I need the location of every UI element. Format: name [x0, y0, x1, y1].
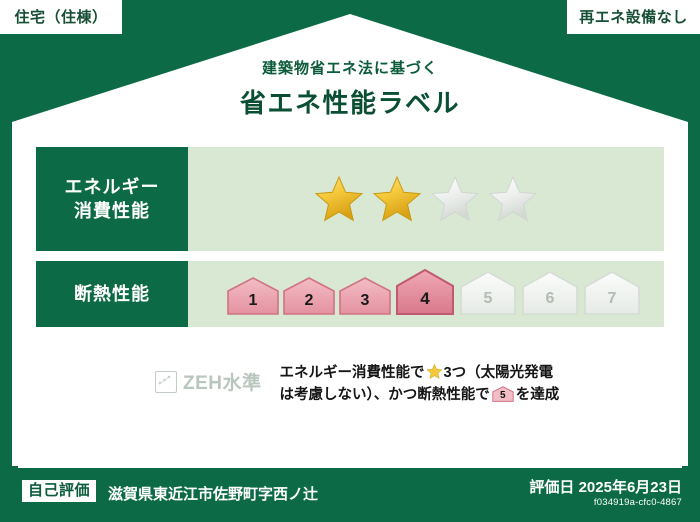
house-badge-4-current: 4: [394, 267, 456, 322]
energy-performance-label: エネルギー 消費性能: [36, 147, 188, 251]
property-address: 滋賀県東近江市佐野町字西ノ辻: [108, 483, 318, 504]
house-icon: [458, 269, 518, 317]
star-rating: [313, 173, 539, 225]
zeh-dots-icon: [156, 372, 173, 389]
zeh-checkbox-icon: [155, 371, 177, 393]
house-badge-5: 5: [458, 269, 518, 322]
insulation-performance-label: 断熱性能: [36, 261, 188, 327]
house-icon: [338, 275, 392, 317]
house-icon: [282, 275, 336, 317]
house-icon: [520, 269, 580, 317]
zeh-description-line2: は考慮しない）、かつ断熱性能で5を達成: [280, 384, 560, 410]
renewable-equipment-badge: 再エネ設備なし: [567, 0, 700, 34]
star-gold-icon: [313, 173, 365, 225]
zeh-desc-l2-part1: は考慮しない）、かつ断熱性能で: [280, 387, 490, 403]
house-icon: [582, 269, 642, 317]
house-badge-1: 1: [226, 275, 280, 322]
house-badge-2: 2: [282, 275, 336, 322]
house-badge-inline-5: 5: [492, 385, 514, 410]
house-icon: [394, 267, 456, 317]
page-title: 省エネ性能ラベル: [0, 83, 700, 120]
evaluation-date: 評価日 2025年6月23日: [529, 476, 682, 497]
label-id-code: f034919a-cfc0-4867: [594, 497, 682, 508]
energy-label-line1: エネルギー: [65, 177, 160, 197]
title-subtitle: 建築物省エネ法に基づく: [0, 57, 700, 78]
star-gray-icon: [487, 173, 539, 225]
energy-performance-row: エネルギー 消費性能: [36, 147, 664, 251]
energy-rating-area: [188, 147, 664, 251]
house-badge-3: 3: [338, 275, 392, 322]
house-number: 5: [492, 388, 514, 404]
zeh-desc-l1-part2: 3つ（太陽光発電: [444, 365, 554, 381]
title-block: 建築物省エネ法に基づく 省エネ性能ラベル: [0, 57, 700, 120]
footer: 自己評価 滋賀県東近江市佐野町字西ノ辻 評価日 2025年6月23日 f0349…: [0, 466, 700, 522]
zeh-standard-row: ZEH水準 エネルギー消費性能で3つ（太陽光発電 は考慮しない）、かつ断熱性能で…: [155, 362, 575, 418]
insulation-rating-area: 1 2 3: [188, 261, 664, 327]
star-gold-icon: [371, 173, 423, 225]
energy-performance-label: 住宅（住棟） 再エネ設備なし 建築物省エネ法に基づく 省エネ性能ラベル エネルギ…: [0, 0, 700, 522]
house-badge-6: 6: [520, 269, 580, 322]
zeh-description-line1: エネルギー消費性能で3つ（太陽光発電: [280, 362, 560, 384]
energy-label-line2: 消費性能: [74, 201, 150, 221]
house-icon: [226, 275, 280, 317]
footer-divider: [18, 466, 682, 468]
star-gray-icon: [429, 173, 481, 225]
zeh-label: ZEH水準: [183, 368, 262, 395]
zeh-desc-l2-part2: を達成: [516, 387, 560, 403]
star-gold-icon: [426, 363, 443, 380]
insulation-performance-row: 断熱性能 1: [36, 261, 664, 327]
zeh-desc-l1-part1: エネルギー消費性能で: [280, 365, 425, 381]
house-badge-7: 7: [582, 269, 642, 322]
zeh-description: エネルギー消費性能で3つ（太陽光発電 は考慮しない）、かつ断熱性能で5を達成: [280, 362, 560, 411]
zeh-mark: ZEH水準: [155, 362, 262, 395]
building-type-badge: 住宅（住棟）: [0, 0, 122, 34]
house-rating-scale: 1 2 3: [226, 267, 642, 322]
self-evaluation-badge: 自己評価: [22, 480, 96, 502]
